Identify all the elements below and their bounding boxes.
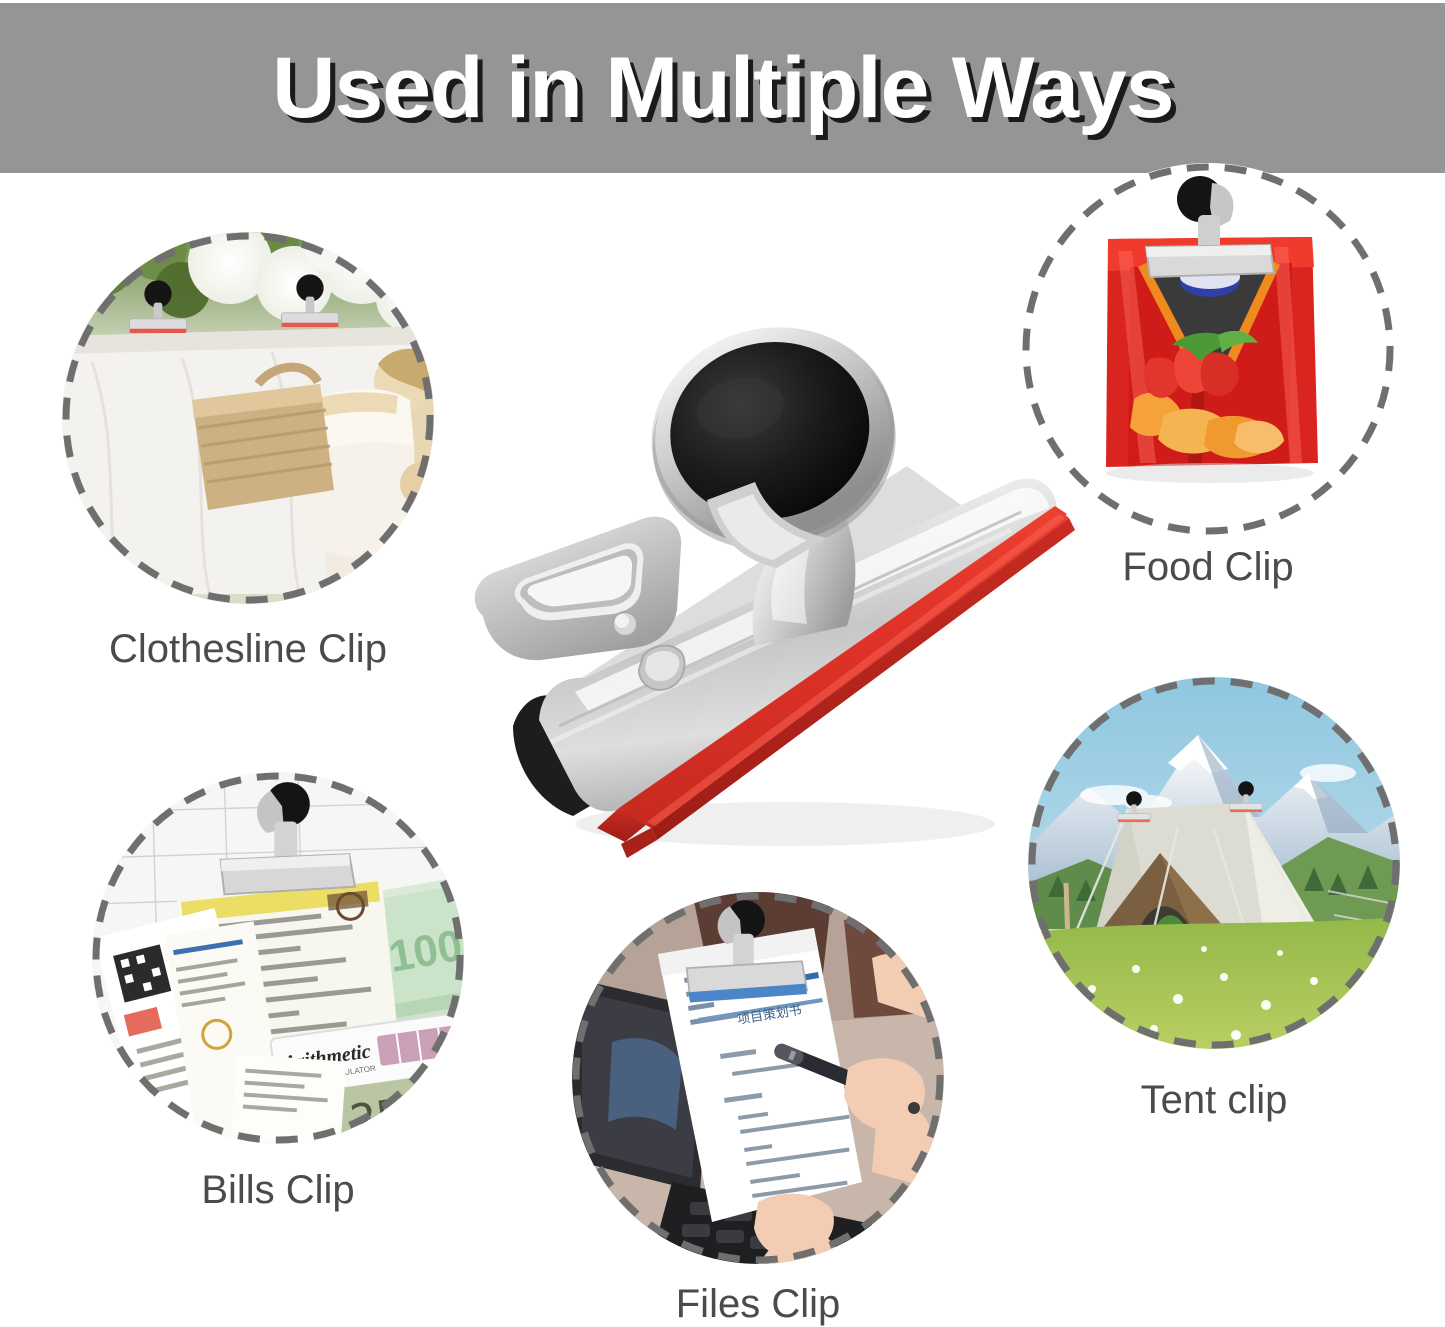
- clip-icon: [1230, 781, 1262, 812]
- infographic-canvas: Used in Multiple Ways: [0, 0, 1445, 1323]
- caption-clothesline: Clothesline Clip: [62, 627, 434, 672]
- feature-circle-files: 项目策划书: [572, 892, 944, 1264]
- clip-icon: [221, 782, 355, 894]
- clip-icon: [281, 274, 338, 327]
- clip-icon: [1146, 176, 1274, 277]
- header-banner: Used in Multiple Ways: [0, 3, 1445, 173]
- clip-icon: [1118, 791, 1150, 822]
- page-title: Used in Multiple Ways: [272, 45, 1173, 131]
- files-photo: 项目策划书: [572, 892, 944, 1264]
- feature-circle-bills: 1000: [92, 772, 464, 1144]
- bills-photo: 1000: [92, 772, 464, 1144]
- caption-files: Files Clip: [572, 1282, 944, 1327]
- clothesline-photo: [62, 232, 434, 604]
- clip-icon: [687, 900, 807, 1002]
- caption-bills: Bills Clip: [92, 1168, 464, 1213]
- caption-tent: Tent clip: [1028, 1078, 1400, 1123]
- clip-icon: [129, 280, 186, 333]
- feature-circle-clothesline: [62, 232, 434, 604]
- chip-clip-illustration: [455, 268, 1095, 878]
- hero-product-image: [455, 268, 1095, 878]
